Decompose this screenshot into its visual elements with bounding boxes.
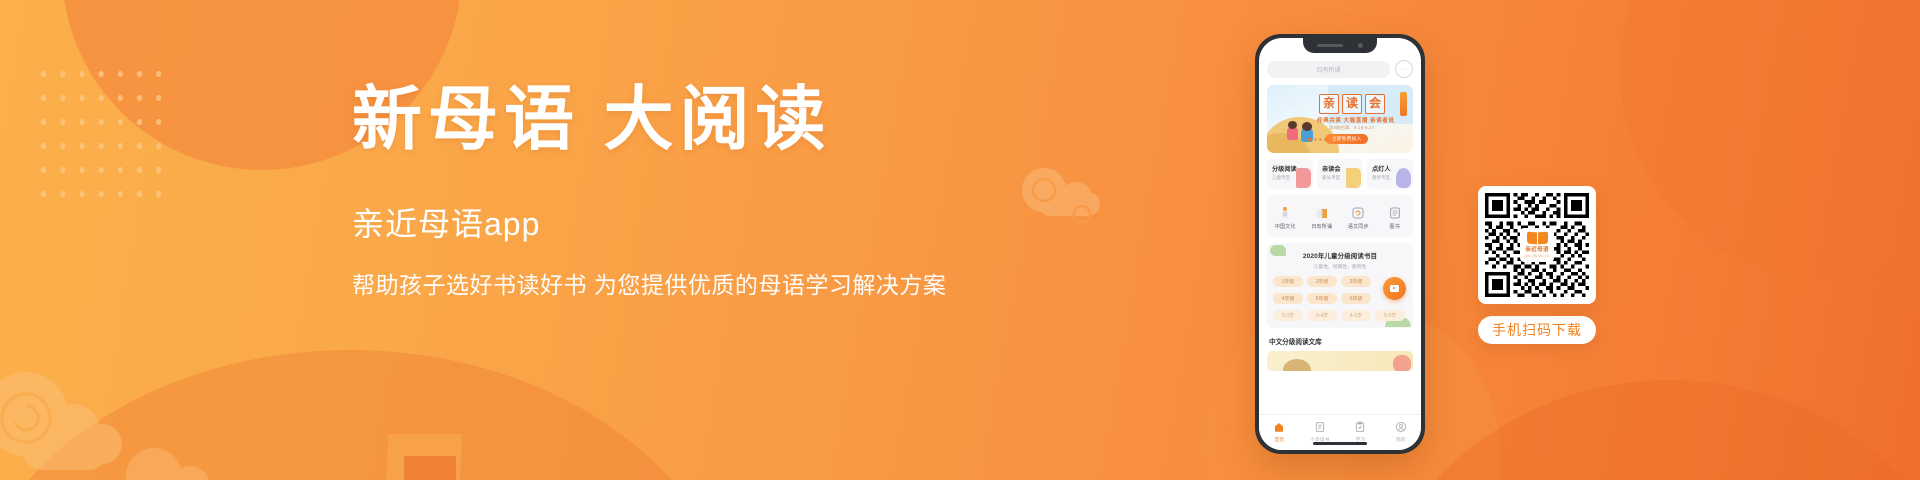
hero-title-char: 会 xyxy=(1365,94,1385,114)
zone-cards: 分级阅读 儿童专区 亲读会 家长专区 点灯人 教师专区 xyxy=(1267,159,1413,189)
grade-chip[interactable]: 5年级 xyxy=(1307,293,1337,304)
tab-study[interactable]: 学习 xyxy=(1343,420,1377,443)
logo-book-icon xyxy=(1527,232,1548,244)
hero-join-button[interactable]: 立即免费加入 xyxy=(1325,134,1368,144)
age-filter-row: 0-3岁 3-4岁 4-5岁 5-6岁 xyxy=(1273,310,1407,321)
tab-home[interactable]: 首页 xyxy=(1262,420,1296,443)
library-section-title: 中文分级阅读文库 xyxy=(1269,336,1413,346)
booklist-subtitle: 儿童性、经典性、教育性 xyxy=(1273,263,1407,270)
book-icon xyxy=(1346,168,1361,188)
app-search-row: 日有所诵 ··· xyxy=(1267,60,1413,78)
search-input[interactable]: 日有所诵 xyxy=(1267,61,1390,78)
grade-chip[interactable]: 6年级 xyxy=(1341,293,1371,304)
phone-screen: 日有所诵 ··· 亲 读 会 经典共读 大咖直播 亲读者说 xyxy=(1259,38,1421,450)
tab-label: 首页 xyxy=(1274,436,1284,443)
zone-card-graded-reading[interactable]: 分级阅读 儿童专区 xyxy=(1267,159,1313,189)
hero-date-text: 第8期招募：9.16-9.27 xyxy=(1329,125,1374,131)
book-icon xyxy=(1296,168,1311,188)
banner-description: 帮助孩子选好书读好书 为您提供优质的母语学习解决方案 xyxy=(352,274,1032,297)
person-icon xyxy=(1396,168,1411,188)
quick-link-label: 图书 xyxy=(1390,223,1400,230)
leaf-decoration-top xyxy=(1270,245,1286,256)
app-name-label: 亲近母语app xyxy=(352,208,1032,240)
library-card[interactable] xyxy=(1267,351,1413,371)
quick-link-label: 日有所诵 xyxy=(1311,223,1332,230)
open-book-icon xyxy=(1314,205,1329,220)
library-card-shape-b xyxy=(1393,355,1411,371)
block-decoration-a xyxy=(384,434,463,480)
library-card-shape-a xyxy=(1283,359,1311,371)
block-decoration-b xyxy=(404,456,456,480)
study-icon xyxy=(1354,420,1367,433)
carousel-dots[interactable] xyxy=(1307,138,1327,141)
hero-title: 亲 读 会 xyxy=(1319,94,1385,114)
booklist-title: 2020年儿童分级阅读书目 xyxy=(1273,251,1407,260)
age-chip[interactable]: 5-6岁 xyxy=(1375,310,1405,321)
qr-code[interactable]: 亲近母语 QIN JIN MU YU xyxy=(1478,186,1596,304)
promo-banner: 新母语 大阅读 亲近母语app 帮助孩子选好书读好书 为您提供优质的母语学习解决… xyxy=(0,0,1920,480)
circle-decoration-top-right xyxy=(1620,0,1920,280)
cloud-icon-bottom-left xyxy=(0,352,152,472)
zone-card-teacher[interactable]: 点灯人 教师专区 xyxy=(1367,159,1413,189)
wave-decoration-left xyxy=(0,350,740,480)
banner-copy: 新母语 大阅读 亲近母语app 帮助孩子选好书读好书 为您提供优质的母语学习解决… xyxy=(352,86,1032,297)
grade-chip[interactable]: 4年级 xyxy=(1273,293,1303,304)
tab-label: 我的 xyxy=(1396,436,1406,443)
wave-decoration-right xyxy=(1360,380,1920,480)
hero-title-char: 读 xyxy=(1342,94,1362,114)
grade-chip[interactable]: 2年级 xyxy=(1307,276,1337,287)
cloud-icon-bottom-second xyxy=(120,432,240,480)
home-icon xyxy=(1273,420,1286,433)
app-screen-content: 日有所诵 ··· 亲 读 会 经典共读 大咖直播 亲读者说 xyxy=(1259,38,1421,450)
hero-child-figure-left xyxy=(1287,126,1298,140)
qr-download-block: 亲近母语 QIN JIN MU YU 手机扫码下载 xyxy=(1478,186,1596,344)
grade-chip[interactable]: 1年级 xyxy=(1273,276,1303,287)
ink-brush-icon xyxy=(1278,205,1293,220)
hero-subtitle: 经典共读 大咖直播 亲读者说 xyxy=(1317,116,1394,124)
hero-flag-decoration xyxy=(1400,92,1407,116)
message-icon[interactable]: ··· xyxy=(1395,60,1413,78)
quick-link-label: 语文同步 xyxy=(1348,223,1369,230)
home-indicator xyxy=(1313,442,1367,445)
book-icon xyxy=(1387,205,1402,220)
phone-mockup: 日有所诵 ··· 亲 读 会 经典共读 大咖直播 亲读者说 xyxy=(1255,34,1425,454)
sync-icon xyxy=(1351,205,1366,220)
quick-link-daily-recitation[interactable]: 日有所诵 xyxy=(1305,205,1339,230)
tab-reading-list[interactable]: 小步读书 xyxy=(1303,420,1337,443)
booklist-card: 2020年儿童分级阅读书目 儿童性、经典性、教育性 1年级 2年级 3年级 4年… xyxy=(1267,243,1413,328)
play-video-icon[interactable] xyxy=(1383,277,1406,300)
download-button[interactable]: 手机扫码下载 xyxy=(1478,316,1596,344)
quick-link-textbook-sync[interactable]: 语文同步 xyxy=(1341,205,1375,230)
tab-profile[interactable]: 我的 xyxy=(1384,420,1418,443)
quick-link-label: 中国文化 xyxy=(1275,223,1296,230)
grade-chip[interactable]: 3年级 xyxy=(1341,276,1371,287)
reading-list-icon xyxy=(1313,420,1326,433)
hero-title-char: 亲 xyxy=(1319,94,1339,114)
page-title: 新母语 大阅读 xyxy=(352,86,1032,156)
age-chip[interactable]: 4-5岁 xyxy=(1341,310,1371,321)
dot-grid-decoration xyxy=(34,62,170,212)
age-chip[interactable]: 3-4岁 xyxy=(1307,310,1337,321)
hero-banner-card[interactable]: 亲 读 会 经典共读 大咖直播 亲读者说 第8期招募：9.16-9.27 立即免… xyxy=(1267,85,1413,153)
age-chip[interactable]: 0-3岁 xyxy=(1273,310,1303,321)
zone-card-parent-club[interactable]: 亲读会 家长专区 xyxy=(1317,159,1363,189)
logo-pinyin: QIN JIN MU YU xyxy=(1524,254,1549,258)
profile-icon xyxy=(1394,420,1407,433)
quick-links-row: 中国文化 日有所诵 xyxy=(1267,195,1413,237)
qr-center-logo: 亲近母语 QIN JIN MU YU xyxy=(1520,228,1554,262)
logo-name: 亲近母语 xyxy=(1525,245,1549,253)
quick-link-books[interactable]: 图书 xyxy=(1378,205,1412,230)
phone-notch xyxy=(1303,38,1377,53)
quick-link-chinese-culture[interactable]: 中国文化 xyxy=(1268,205,1302,230)
